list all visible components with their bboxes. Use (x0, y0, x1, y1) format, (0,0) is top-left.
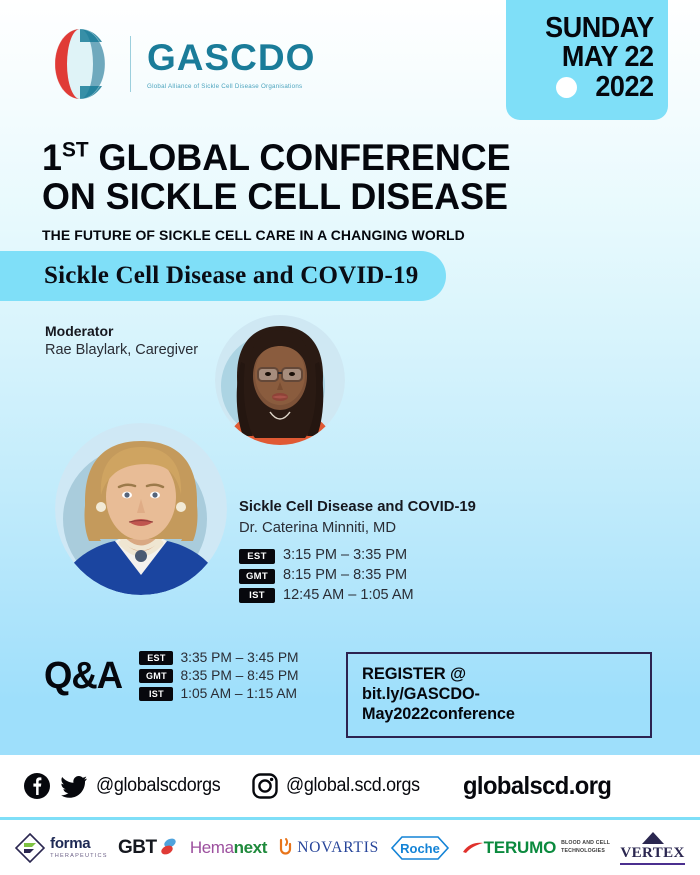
sponsor-bar: forma THERAPEUTICS GBT Hemanext NOVARTIS (0, 817, 700, 875)
register-label: REGISTER @ (362, 665, 636, 685)
time-row: IST 12:45 AM – 1:05 AM (239, 587, 539, 605)
title-line1-rest: GLOBAL CONFERENCE (89, 137, 511, 178)
qa-block: Q&A EST 3:35 PM – 3:45 PM GMT 8:35 PM – … (44, 650, 299, 703)
moderator-label: Moderator (45, 322, 198, 341)
sponsor-hemanext: Hemanext (190, 838, 267, 858)
sponsor-name-novartis: NOVARTIS (297, 839, 379, 857)
title-ordinal-suffix: ST (62, 138, 89, 162)
speaker-portrait-photo (55, 423, 227, 595)
gbt-logo-icon (158, 837, 180, 859)
sponsor-sub-terumo: BLOOD AND CELL TECHNOLOGIES (561, 840, 610, 854)
instagram-icon[interactable] (252, 773, 278, 799)
sponsor-roche: Roche (389, 834, 451, 862)
white-dot-icon (556, 77, 577, 98)
time-row: EST 3:15 PM – 3:35 PM (239, 547, 539, 565)
conference-poster: SUNDAY MAY 22 2022 GASCDO Global Allianc… (0, 0, 700, 875)
twitter-icon[interactable] (60, 773, 88, 799)
date-badge-date: MAY 22 (562, 43, 654, 73)
social-handle-instagram[interactable]: @global.scd.orgs (286, 775, 420, 797)
website-url[interactable]: globalscd.org (463, 772, 611, 801)
sponsor-name-forma: forma (50, 836, 108, 851)
logo-tagline: Global Alliance of Sickle Cell Disease O… (147, 83, 315, 90)
logo-name: GASCDO (147, 39, 315, 76)
terumo-sub-line1: BLOOD AND CELL (561, 840, 610, 847)
moderator-name: Rae Blaylark, Caregiver (45, 341, 198, 361)
svg-text:Roche: Roche (400, 841, 440, 856)
social-handle-fb-tw[interactable]: @globalscdorgs (96, 775, 220, 797)
speaker-block: Sickle Cell Disease and COVID-19 Dr. Cat… (239, 498, 539, 607)
register-box[interactable]: REGISTER @ bit.ly/GASCDO-May2022conferen… (346, 652, 652, 738)
speaker-name: Dr. Caterina Minniti, MD (239, 519, 539, 538)
title-block: 1ST GLOBAL CONFERENCE ON SICKLE CELL DIS… (42, 138, 582, 244)
time-row: IST 1:05 AM – 1:15 AM (139, 686, 298, 703)
register-url[interactable]: bit.ly/GASCDO-May2022conference (362, 685, 632, 725)
sponsor-gbt: GBT (118, 837, 180, 859)
forma-text-group: forma THERAPEUTICS (50, 836, 108, 859)
qa-time-range-est: 3:35 PM – 3:45 PM (180, 650, 298, 667)
vertex-triangle-icon (640, 831, 666, 845)
social-bar: @globalscdorgs @global.scd.orgs globalsc… (0, 755, 700, 817)
date-badge-year-row: 2022 (506, 73, 654, 103)
terumo-sub-line2: TECHNOLOGIES (561, 848, 610, 855)
sponsor-terumo: TERUMO BLOOD AND CELL TECHNOLOGIES (462, 838, 610, 858)
qa-timezone-badge-gmt: GMT (139, 669, 173, 683)
sponsor-novartis: NOVARTIS (277, 837, 379, 859)
moderator-portrait-photo (215, 314, 345, 446)
qa-timezone-badge-ist: IST (139, 687, 173, 701)
timezone-badge-est: EST (239, 549, 275, 564)
session-banner: Sickle Cell Disease and COVID-19 (0, 251, 446, 301)
gascdo-globe-logo-icon (44, 28, 116, 100)
page-title-line2: ON SICKLE CELL DISEASE (42, 177, 566, 216)
speaker-times: EST 3:15 PM – 3:35 PM GMT 8:15 PM – 8:35… (239, 547, 539, 604)
qa-label: Q&A (44, 655, 122, 698)
sponsor-name-gbt: GBT (118, 837, 157, 859)
hemanext-logo-icon: Hemanext (190, 838, 267, 858)
logo-divider (130, 36, 131, 92)
gascdo-logo: GASCDO Global Alliance of Sickle Cell Di… (44, 28, 315, 100)
timezone-badge-gmt: GMT (239, 569, 275, 584)
qa-time-range-gmt: 8:35 PM – 8:45 PM (180, 668, 298, 685)
page-title-line1: 1ST GLOBAL CONFERENCE (42, 138, 566, 177)
sponsor-sub-forma: THERAPEUTICS (50, 853, 108, 859)
sponsor-name-terumo: TERUMO (484, 838, 556, 858)
qa-timezone-badge-est: EST (139, 651, 173, 665)
sponsor-name-vertex: VERTEX (620, 845, 684, 865)
sponsor-vertex: VERTEX (620, 831, 684, 865)
qa-time-range-ist: 1:05 AM – 1:15 AM (180, 686, 297, 703)
facebook-icon[interactable] (24, 773, 50, 799)
speaker-topic: Sickle Cell Disease and COVID-19 (239, 498, 539, 517)
terumo-logo-icon (462, 841, 484, 855)
time-row: GMT 8:15 PM – 8:35 PM (239, 567, 539, 585)
logo-text-group: GASCDO Global Alliance of Sickle Cell Di… (147, 39, 315, 90)
time-row: GMT 8:35 PM – 8:45 PM (139, 668, 298, 685)
session-banner-title: Sickle Cell Disease and COVID-19 (44, 262, 418, 290)
social-group-instagram: @global.scd.orgs (252, 773, 428, 799)
moderator-block: Moderator Rae Blaylark, Caregiver (45, 322, 198, 360)
time-range-gmt: 8:15 PM – 8:35 PM (283, 567, 407, 585)
time-range-est: 3:15 PM – 3:35 PM (283, 547, 407, 565)
social-group-fb-tw: @globalscdorgs (24, 773, 228, 799)
roche-hexagon-icon: Roche (389, 834, 451, 862)
timezone-badge-ist: IST (239, 588, 275, 603)
sponsor-forma-therapeutics: forma THERAPEUTICS (15, 833, 108, 863)
title-ordinal-number: 1 (42, 137, 62, 178)
date-badge-day: SUNDAY (545, 14, 654, 44)
sponsor-name-hema-b: next (234, 838, 267, 857)
novartis-flame-icon (277, 837, 293, 859)
forma-therapeutics-logo-icon (15, 833, 45, 863)
time-range-ist: 12:45 AM – 1:05 AM (283, 587, 414, 605)
qa-times: EST 3:35 PM – 3:45 PM GMT 8:35 PM – 8:45… (139, 650, 298, 703)
page-subtitle: THE FUTURE OF SICKLE CELL CARE IN A CHAN… (42, 228, 574, 244)
date-badge: SUNDAY MAY 22 2022 (506, 0, 668, 120)
sponsor-name-hema-a: Hema (190, 838, 234, 857)
date-badge-year: 2022 (596, 73, 654, 103)
time-row: EST 3:35 PM – 3:45 PM (139, 650, 298, 667)
